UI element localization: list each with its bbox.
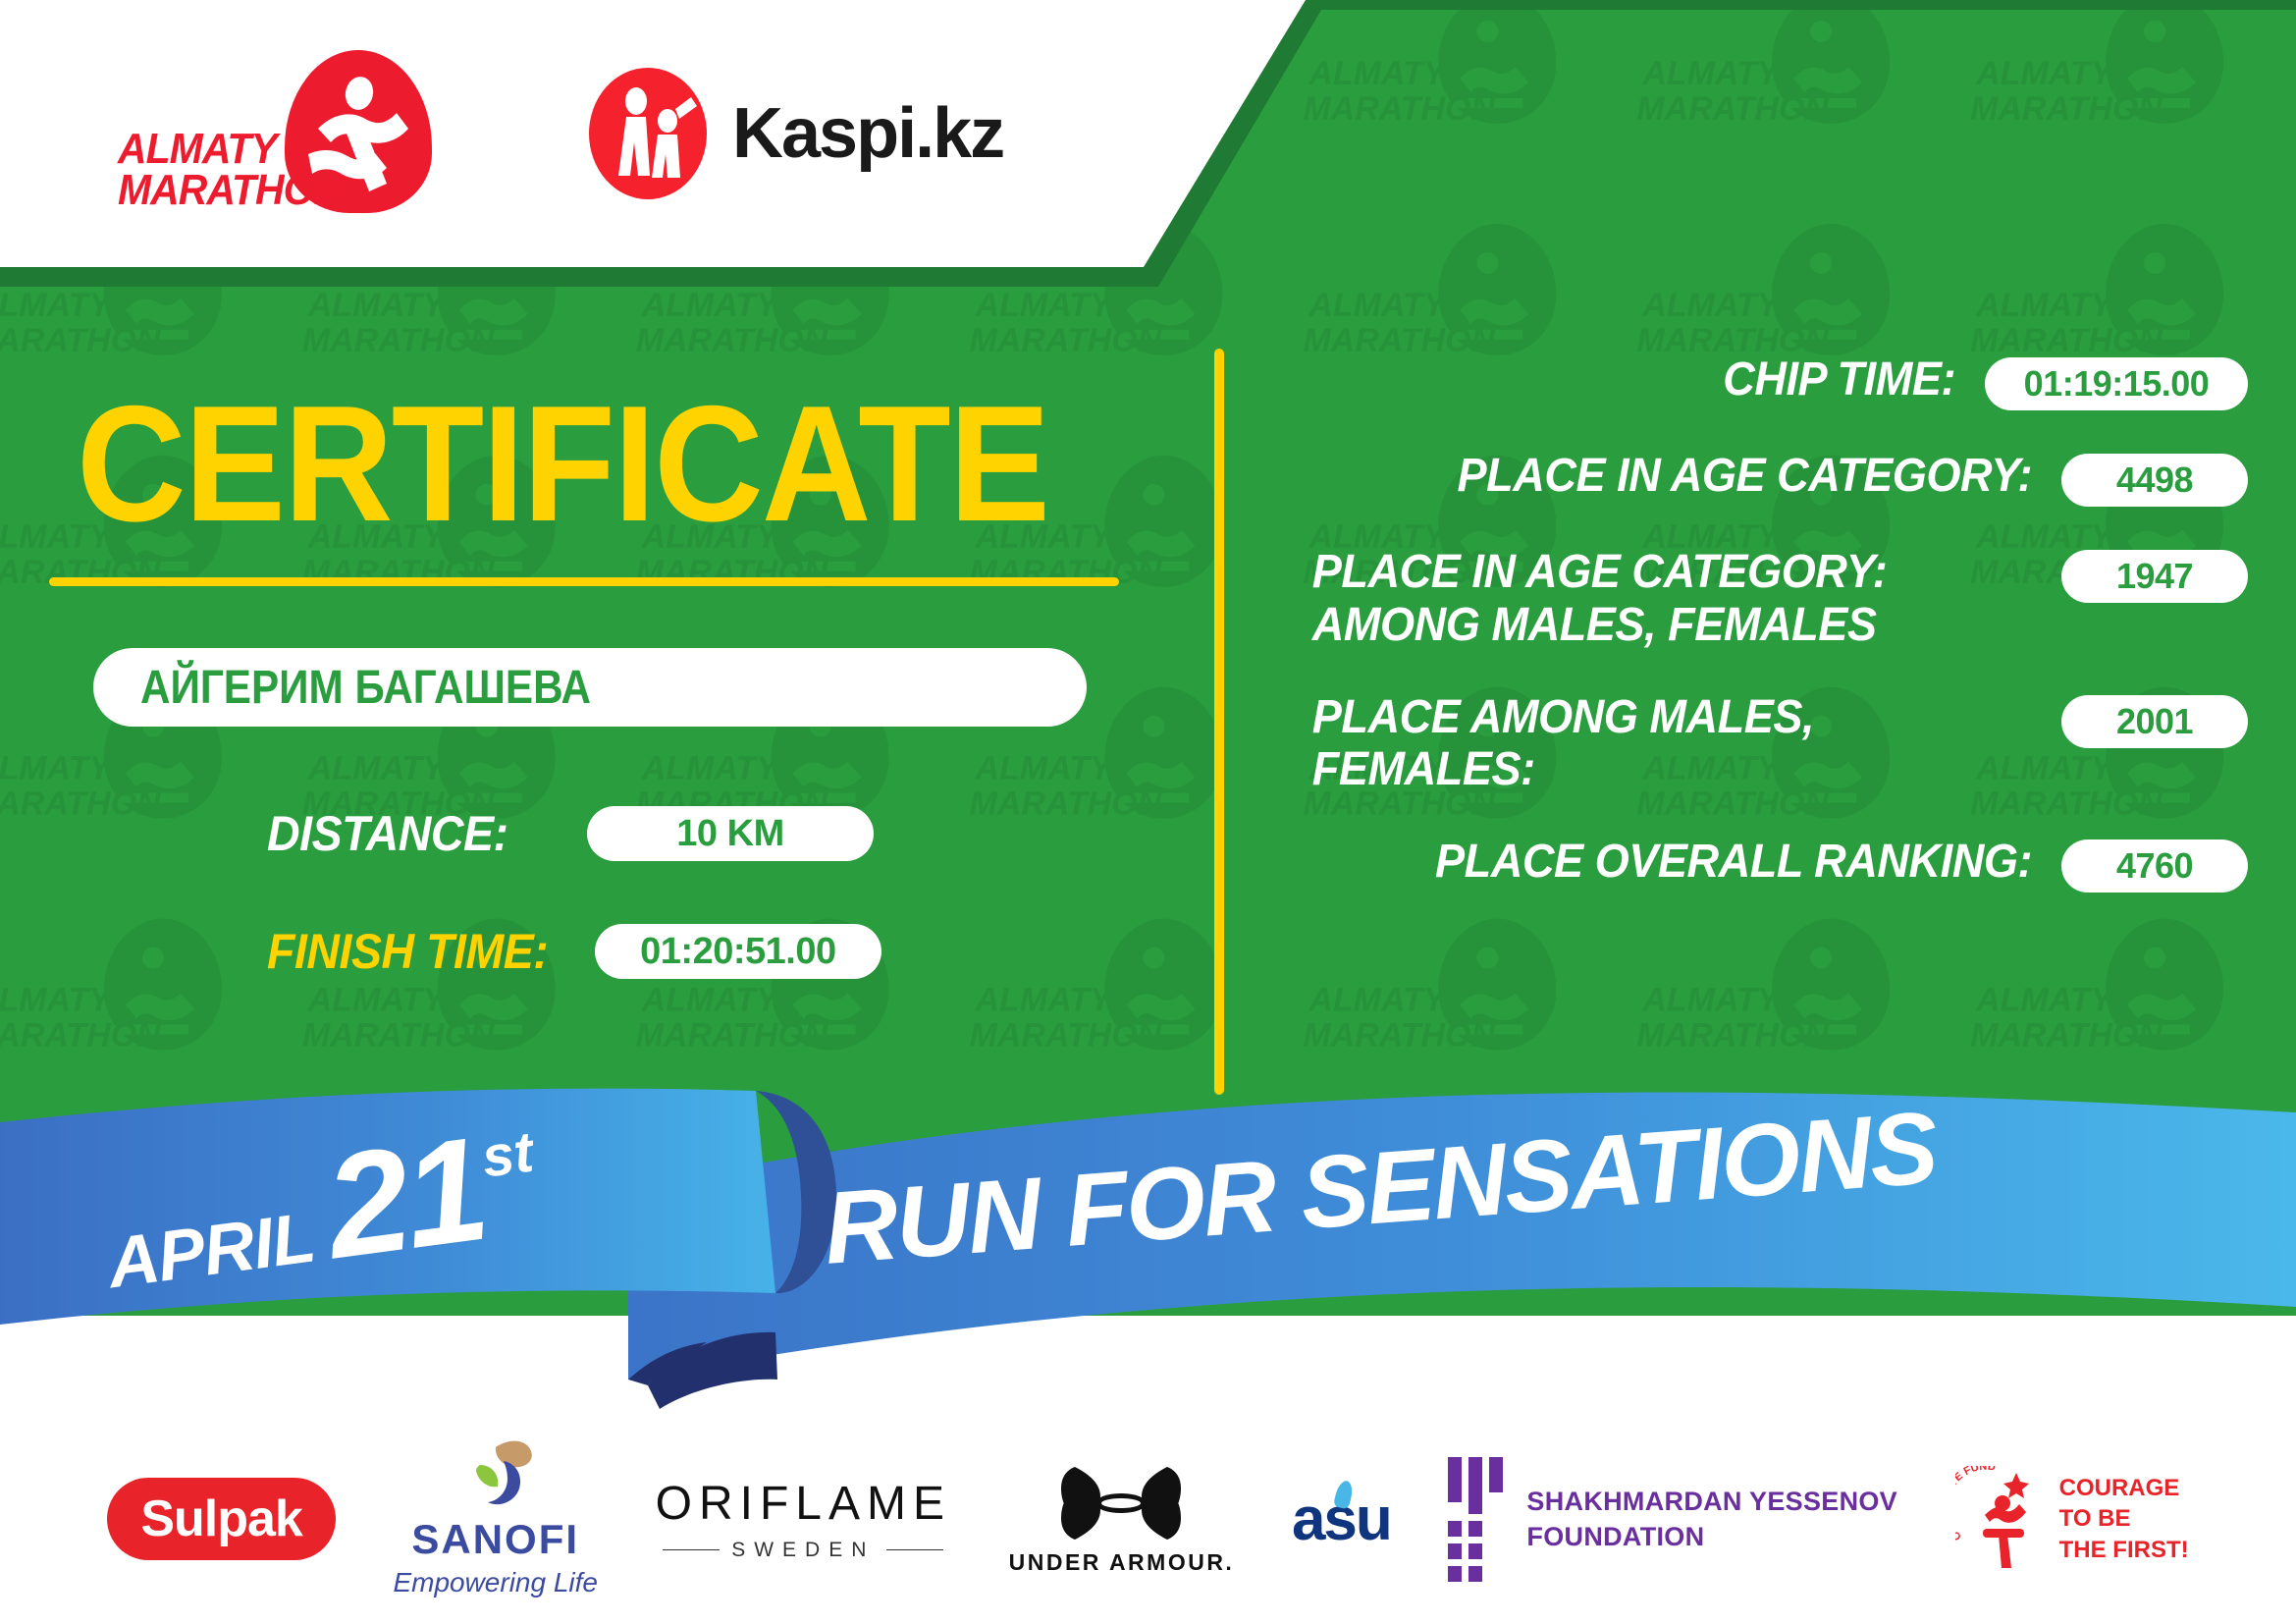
courage-line-3: THE FIRST!	[2059, 1537, 2189, 1563]
sponsor-bar: Sulpak SANOFI Empowering Life ORIFLAME S…	[0, 1414, 2296, 1624]
place-age-category-value: 4498	[2061, 454, 2248, 507]
sponsor-courage-fund: CORPORATE FUND COURAGE TO BE THE FIRST!	[1955, 1466, 2189, 1572]
sanofi-mark-icon	[451, 1439, 541, 1512]
rule-right	[886, 1549, 943, 1551]
sponsor-under-armour: UNDER ARMOUR.	[1009, 1463, 1235, 1576]
rule-left	[663, 1549, 720, 1551]
finish-time-value: 01:20:51.00	[595, 924, 881, 979]
sponsor-asu: asu	[1292, 1485, 1391, 1554]
participant-name: АЙГЕРИМ БАГАШЕВА	[140, 661, 591, 715]
stats-panel: CHIP TIME: 01:19:15.00 PLACE IN AGE CATE…	[1266, 353, 2248, 932]
label-line-1: PLACE IN AGE CATEGORY:	[1312, 546, 1887, 598]
chip-time-label: CHIP TIME:	[1308, 353, 1955, 406]
participant-name-field: АЙГЕРИМ БАГАШЕВА	[93, 648, 1087, 727]
asu-logo: asu	[1292, 1485, 1391, 1554]
event-day-suffix: st	[478, 1119, 537, 1191]
sponsor-sulpak: Sulpak	[107, 1478, 336, 1560]
yessenov-line-2: FOUNDATION	[1526, 1522, 1704, 1551]
distance-label: DISTANCE:	[267, 805, 508, 862]
yessenov-wordmark: SHAKHMARDAN YESSENOV FOUNDATION	[1526, 1484, 1897, 1555]
distance-row: DISTANCE: 10 KM	[267, 805, 874, 862]
courage-slogan: COURAGE TO BE THE FIRST!	[2059, 1473, 2189, 1565]
label-line-1: PLACE AMONG MALES,	[1312, 691, 1814, 743]
place-age-category-label: PLACE IN AGE CATEGORY:	[1312, 450, 2032, 503]
place-among-gender-value: 2001	[2061, 695, 2248, 748]
courage-line-1: COURAGE	[2059, 1475, 2180, 1501]
label-line-2: AMONG MALES, FEMALES	[1312, 599, 1877, 651]
event-ribbon: APRIL 21 st RUN FOR SENSATIONS	[0, 1085, 2296, 1409]
under-armour-wordmark: UNDER ARMOUR.	[1009, 1549, 1235, 1576]
stat-row-place-age-category: PLACE IN AGE CATEGORY: 4498	[1266, 450, 2248, 507]
stat-row-place-age-category-gender: PLACE IN AGE CATEGORY: AMONG MALES, FEMA…	[1266, 546, 2248, 652]
oriflame-wordmark: ORIFLAME	[656, 1477, 951, 1531]
chip-time-value: 01:19:15.00	[1985, 357, 2248, 410]
yessenov-bars-icon	[1448, 1457, 1503, 1582]
place-overall-value: 4760	[2061, 839, 2248, 893]
label-line-2: FEMALES:	[1312, 743, 1535, 795]
page-title: CERTIFICATE	[77, 381, 1048, 546]
place-age-category-gender-label: PLACE IN AGE CATEGORY: AMONG MALES, FEMA…	[1312, 546, 2032, 652]
stat-row-chip-time: CHIP TIME: 01:19:15.00	[1266, 353, 2248, 410]
distance-value: 10 KM	[587, 806, 874, 861]
sponsor-oriflame: ORIFLAME SWEDEN	[656, 1477, 951, 1562]
courage-figure-icon: CORPORATE FUND	[1955, 1466, 2046, 1572]
vertical-divider	[1214, 349, 1224, 1095]
place-age-category-gender-value: 1947	[2061, 550, 2248, 603]
sanofi-wordmark: SANOFI	[393, 1516, 598, 1563]
title-underline	[49, 577, 1119, 586]
yessenov-line-1: SHAKHMARDAN YESSENOV	[1526, 1487, 1897, 1516]
sponsor-yessenov-foundation: SHAKHMARDAN YESSENOV FOUNDATION	[1448, 1457, 1897, 1582]
sponsor-sanofi: SANOFI Empowering Life	[393, 1439, 598, 1598]
courage-line-2: TO BE	[2059, 1505, 2131, 1532]
stat-row-place-overall: PLACE OVERALL RANKING: 4760	[1266, 836, 2248, 893]
event-day: 21	[319, 1122, 491, 1274]
under-armour-icon	[1059, 1463, 1183, 1543]
place-overall-label: PLACE OVERALL RANKING:	[1312, 836, 2032, 889]
sanofi-tagline: Empowering Life	[393, 1567, 598, 1598]
certificate-page: ALMATY MARATHON ALMATY	[0, 0, 2296, 1624]
finish-time-row: FINISH TIME: 01:20:51.00	[267, 923, 881, 980]
finish-time-label: FINISH TIME:	[267, 923, 548, 980]
place-among-gender-label: PLACE AMONG MALES, FEMALES:	[1312, 691, 2032, 797]
oriflame-country: SWEDEN	[731, 1539, 875, 1562]
oriflame-sub: SWEDEN	[656, 1539, 951, 1562]
stat-row-place-among-gender: PLACE AMONG MALES, FEMALES: 2001	[1266, 691, 2248, 797]
sulpak-logo: Sulpak	[107, 1478, 336, 1560]
